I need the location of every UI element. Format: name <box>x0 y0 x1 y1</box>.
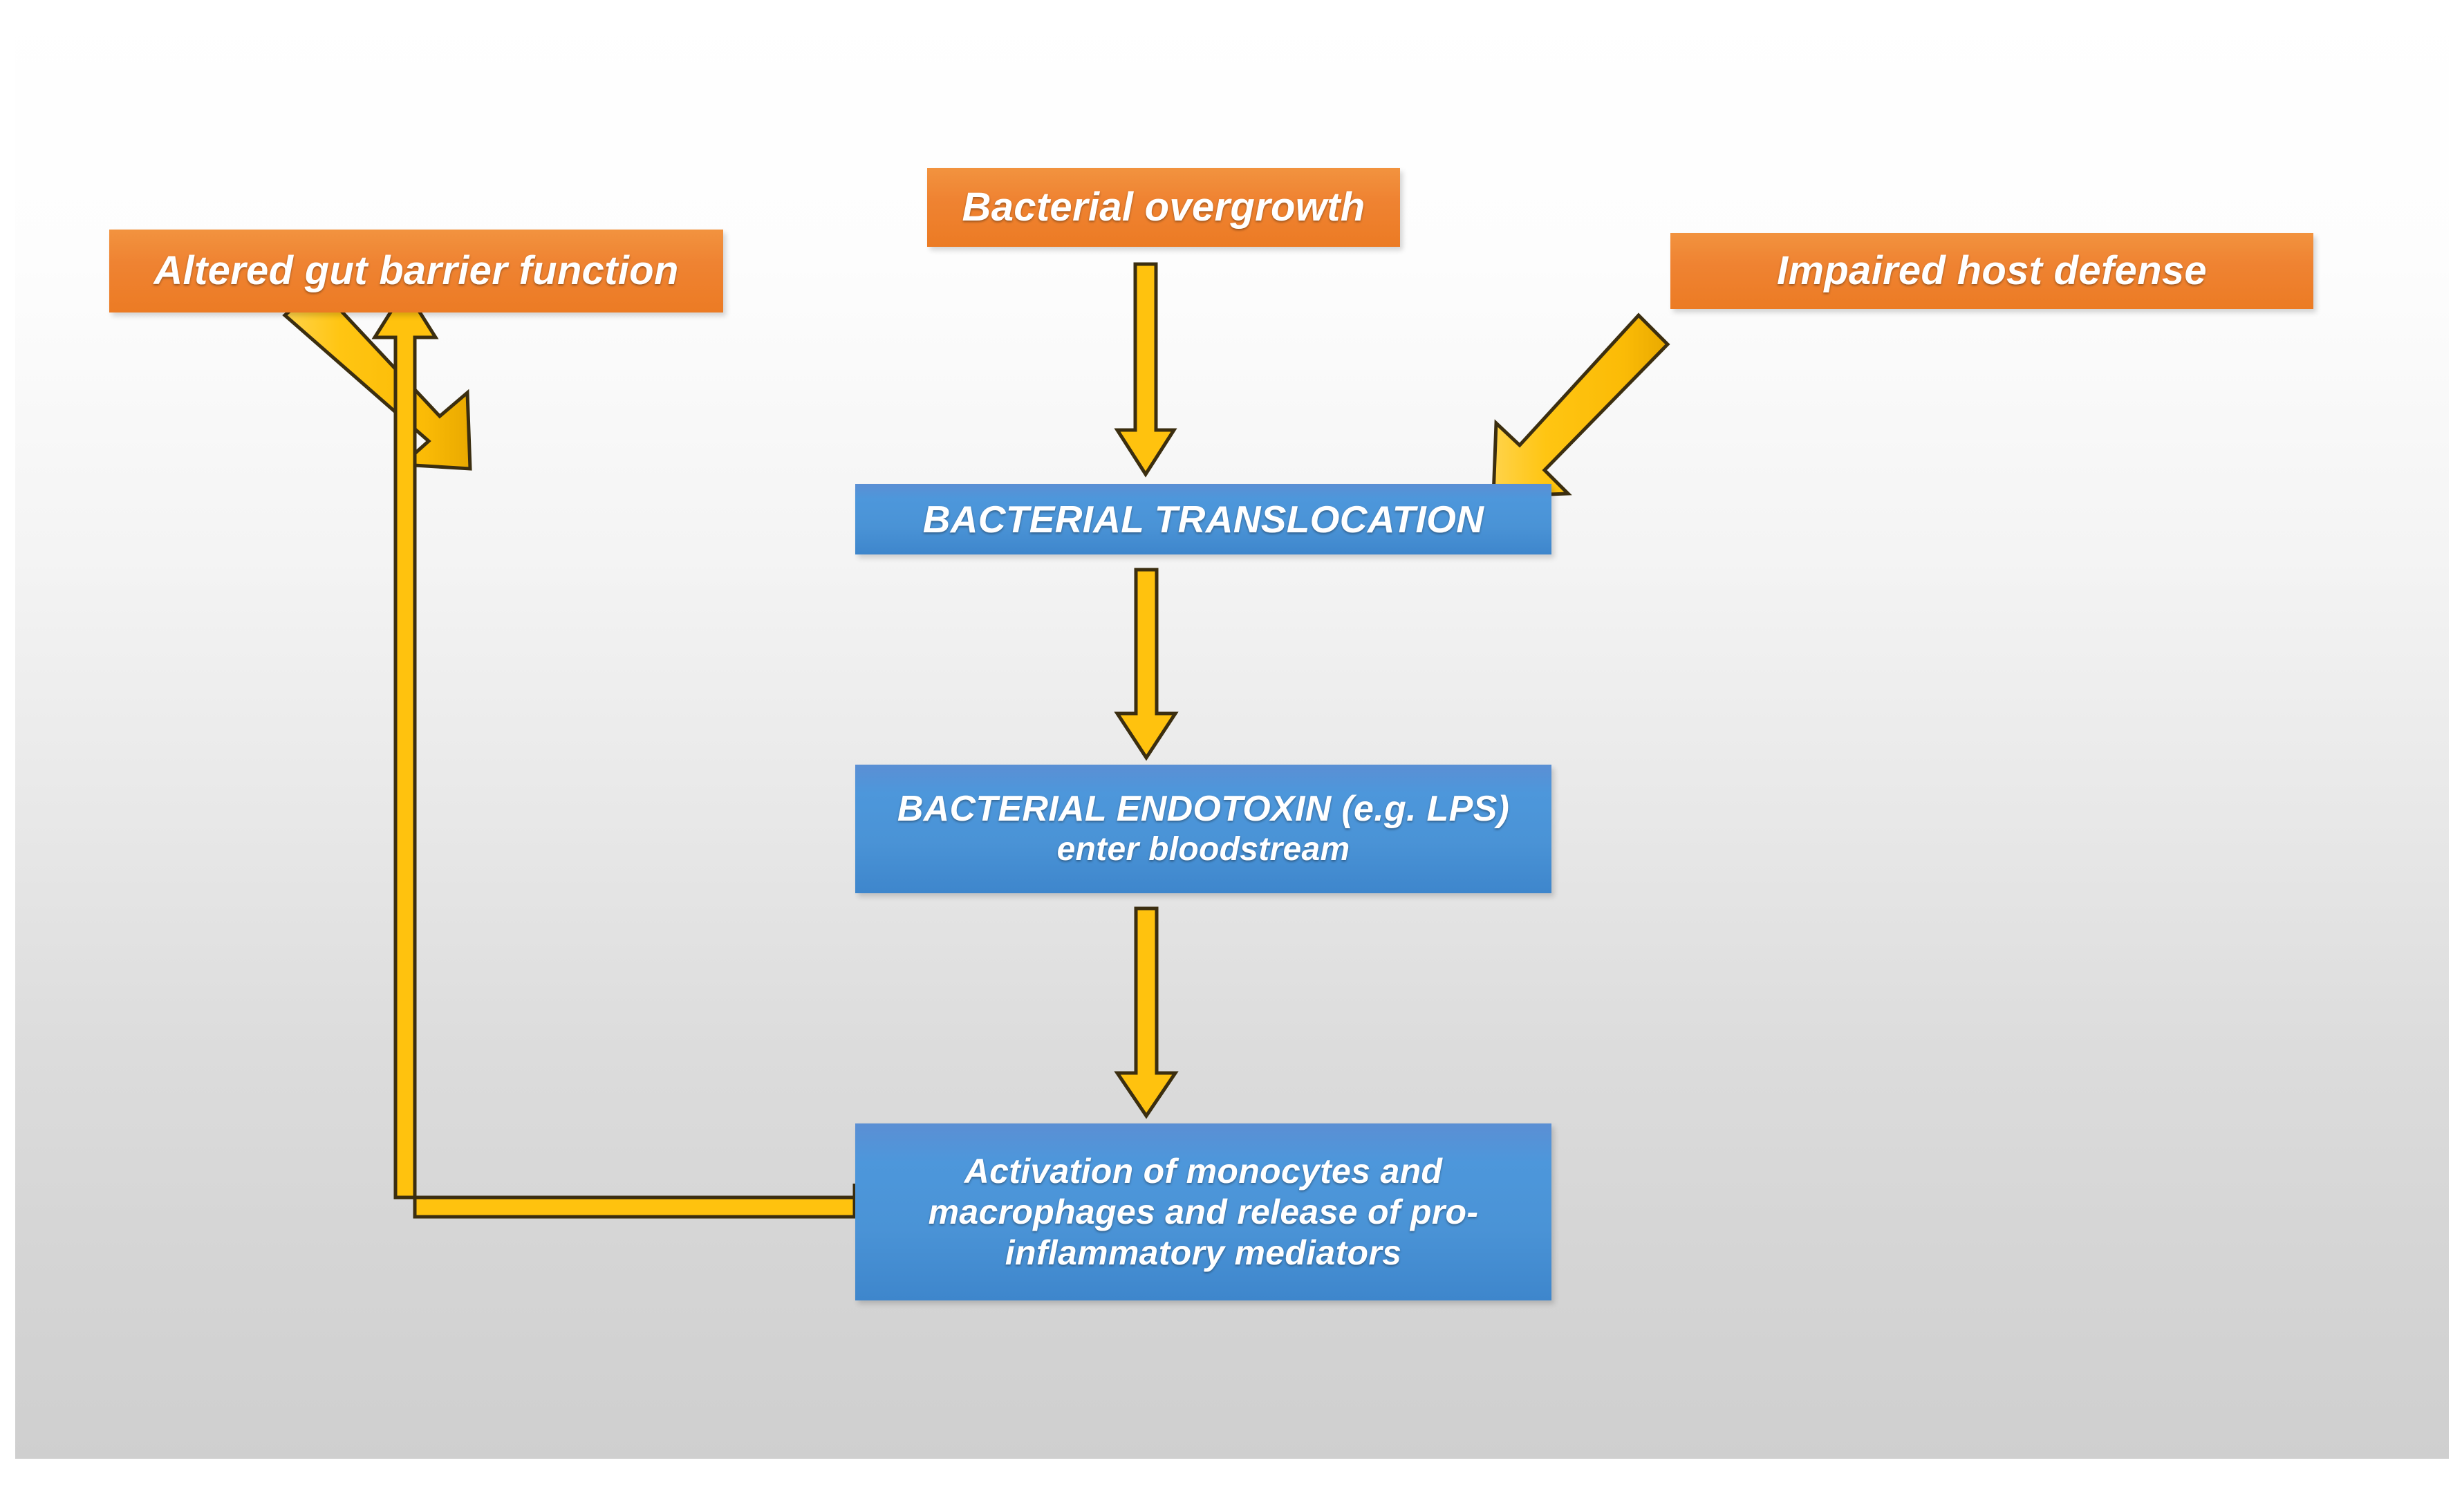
node-label-block: BACTERIAL ENDOTOXIN (e.g. LPS) enter blo… <box>879 788 1527 870</box>
node-label-line-2: macrophages and release of pro- <box>929 1192 1479 1233</box>
node-label-line-2: enter bloodstream <box>897 830 1509 870</box>
node-altered-gut-barrier-function[interactable]: Altered gut barrier function <box>109 230 723 312</box>
arrow-altered-gut-to-translocation <box>285 286 470 469</box>
node-label: BACTERIAL TRANSLOCATION <box>905 497 1502 542</box>
arrow-impaired-host-to-translocation <box>1493 315 1668 496</box>
node-label-line-1: BACTERIAL ENDOTOXIN (e.g. LPS) <box>897 788 1509 830</box>
node-bacterial-overgrowth[interactable]: Bacterial overgrowth <box>927 168 1400 247</box>
arrow-activation-feedback-to-altered-gut <box>375 289 855 1217</box>
arrow-overgrowth-to-translocation <box>1117 264 1174 474</box>
node-impaired-host-defense[interactable]: Impaired host defense <box>1670 233 2313 309</box>
arrow-translocation-to-endotoxin <box>1117 570 1175 758</box>
node-label: Bacterial overgrowth <box>944 184 1383 231</box>
node-bacterial-translocation[interactable]: BACTERIAL TRANSLOCATION <box>855 484 1551 554</box>
node-bacterial-endotoxin[interactable]: BACTERIAL ENDOTOXIN (e.g. LPS) enter blo… <box>855 765 1551 893</box>
arrow-endotoxin-to-activation <box>1117 908 1175 1116</box>
node-label-block: Activation of monocytes and macrophages … <box>911 1151 1497 1273</box>
node-label-line-1: Activation of monocytes and <box>929 1151 1479 1192</box>
node-label: Altered gut barrier function <box>136 248 696 295</box>
node-label: Impaired host defense <box>1759 248 2225 295</box>
node-label-line-3: inflammatory mediators <box>929 1233 1479 1273</box>
node-activation-monocytes-macrophages[interactable]: Activation of monocytes and macrophages … <box>855 1123 1551 1300</box>
slide-canvas: Altered gut barrier function Bacterial o… <box>15 0 2449 1459</box>
